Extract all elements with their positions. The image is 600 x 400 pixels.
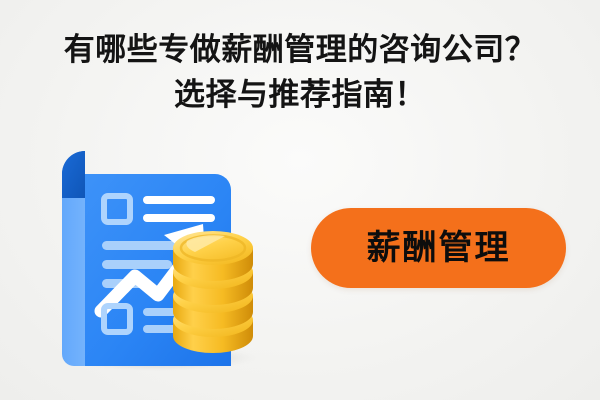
document-curl-fold bbox=[62, 151, 85, 197]
tag-button-label: 薪酬管理 bbox=[367, 231, 511, 265]
text-line-white-2 bbox=[143, 214, 215, 222]
promo-banner: 有哪些专做薪酬管理的咨询公司？ 选择与推荐指南！ bbox=[0, 0, 600, 400]
page-title: 有哪些专做薪酬管理的咨询公司？ 选择与推荐指南！ bbox=[0, 30, 600, 115]
illustration-svg bbox=[40, 140, 280, 380]
salary-report-illustration bbox=[40, 140, 280, 380]
text-line-white-1 bbox=[143, 196, 215, 204]
salary-management-tag-button[interactable]: 薪酬管理 bbox=[311, 208, 566, 288]
headline-line-1: 有哪些专做薪酬管理的咨询公司？ bbox=[0, 30, 600, 70]
coin-stack bbox=[173, 231, 253, 353]
headline-line-2: 选择与推荐指南！ bbox=[0, 75, 600, 115]
text-line-light-2 bbox=[102, 260, 172, 269]
